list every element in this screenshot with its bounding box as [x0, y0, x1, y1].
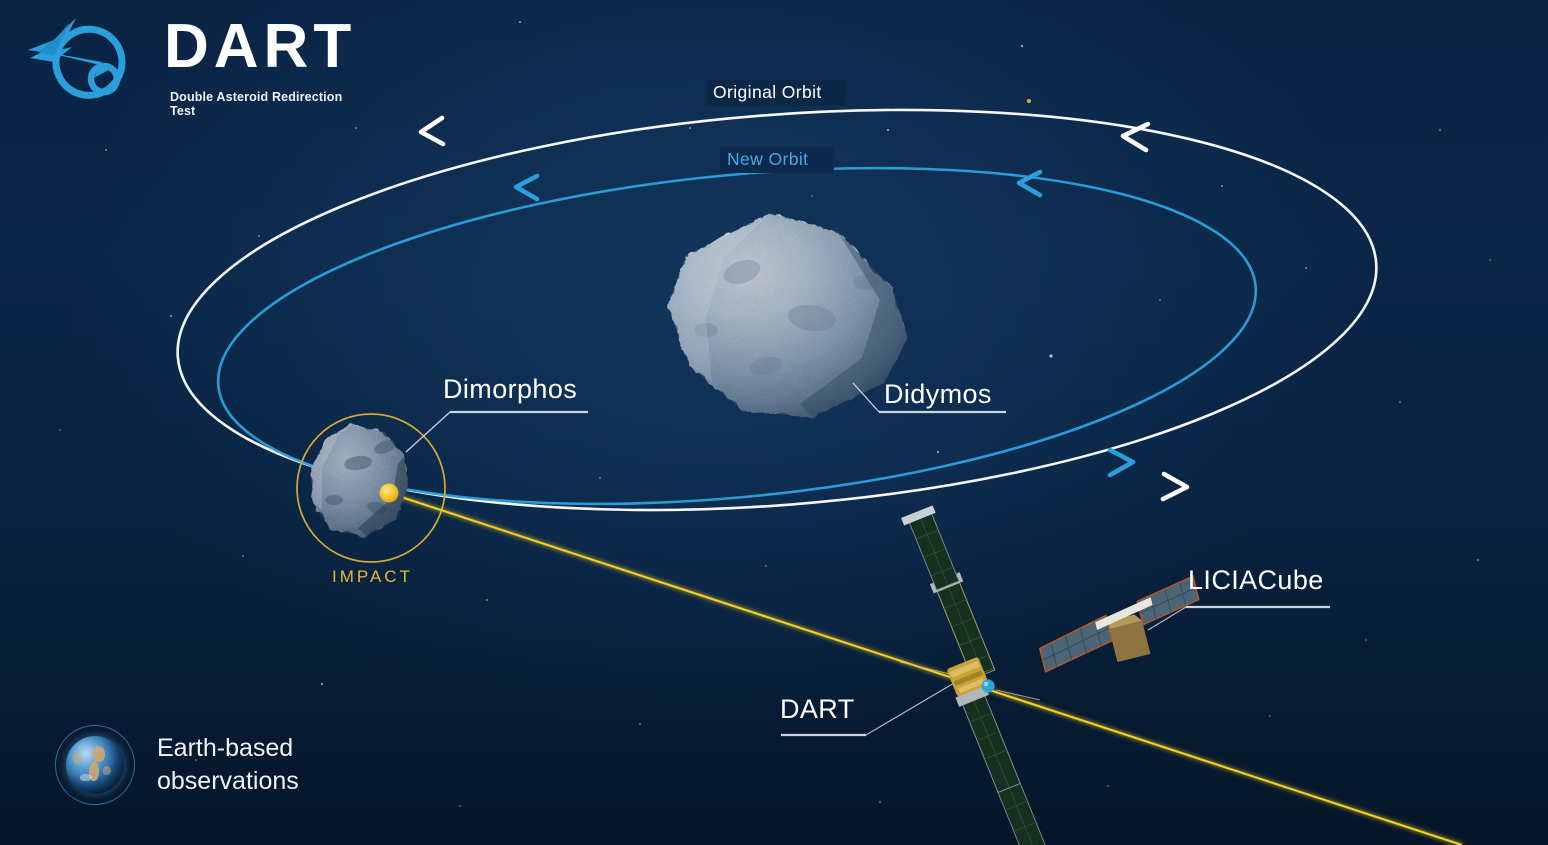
spacecraft-label-dart: DART — [780, 694, 855, 725]
dart-spacecraft — [900, 505, 1048, 845]
dart-mission-infographic: DART Double Asteroid Redirection Test Or… — [0, 0, 1548, 845]
orbit-arrow-new-upper-left — [516, 176, 537, 199]
body-label-didymos: Didymos — [884, 379, 992, 410]
orbit-arrow-original-lower-right — [1163, 474, 1187, 499]
impact-point-marker — [380, 484, 399, 503]
orbit-arrow-new-lower-right — [1110, 450, 1133, 475]
dart-logo: DART Double Asteroid Redirection Test — [24, 12, 364, 116]
earth-globe-icon — [55, 725, 135, 805]
orbit-label-new: New Orbit — [727, 149, 808, 170]
impact-label: IMPACT — [332, 567, 413, 587]
leader-line-dimorphos — [406, 412, 588, 452]
logo-tagline: Double Asteroid Redirection Test — [170, 90, 364, 118]
spacecraft-label-liciacube: LICIACube — [1188, 565, 1324, 596]
earth-observations-line2: observations — [157, 765, 299, 798]
body-label-dimorphos: Dimorphos — [443, 374, 577, 405]
starfield — [59, 21, 1491, 807]
dimorphos-asteroid — [311, 425, 408, 536]
orbit-arrow-original-upper-right — [1123, 124, 1148, 150]
liciacube-spacecraft — [1032, 576, 1209, 679]
scene-vector-layer — [0, 0, 1548, 845]
earth-based-observations: Earth-based observations — [55, 725, 299, 805]
orbit-arrow-original-upper-left — [421, 118, 443, 144]
earth-globe-sphere — [66, 736, 124, 794]
earth-observations-text: Earth-based observations — [157, 732, 299, 798]
orbit-label-original: Original Orbit — [713, 82, 822, 103]
logo-wordmark: DART — [164, 16, 356, 78]
didymos-asteroid — [668, 213, 908, 417]
dart-swoosh-logo-icon — [24, 16, 142, 108]
earth-observations-line1: Earth-based — [157, 732, 299, 765]
